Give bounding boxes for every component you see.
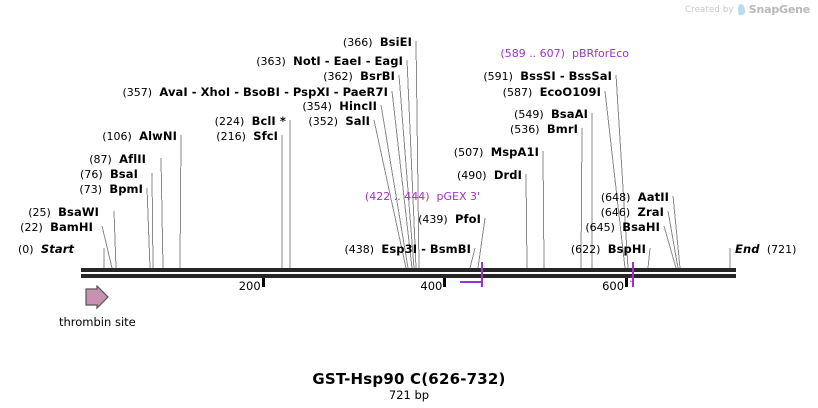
enzyme-position: (22): [20, 221, 43, 234]
enzyme-position: (549): [514, 108, 544, 121]
sequence-backbone-bottom: [81, 274, 736, 278]
enzyme-position: (622): [571, 243, 601, 256]
enzyme-name-separator: -: [280, 85, 293, 99]
enzyme-label-aatii[interactable]: (648) AatII: [601, 192, 669, 204]
enzyme-label-bcli[interactable]: (224) BclI *: [215, 116, 286, 128]
enzyme-position: (354): [302, 100, 332, 113]
enzyme-name: EagI: [374, 54, 403, 68]
enzyme-name-separator: -: [556, 69, 569, 83]
enzyme-name: SfcI: [253, 129, 278, 143]
enzyme-position: (106): [102, 130, 132, 143]
axis-tick-mark-400: [443, 278, 446, 287]
enzyme-name: BamHI: [50, 220, 93, 234]
enzyme-name: AflII: [119, 152, 146, 166]
leader-bsawi: [114, 211, 116, 268]
enzyme-label-bsawi[interactable]: (25) BsaWI: [28, 207, 99, 219]
enzyme-position: (438): [344, 243, 374, 256]
enzyme-name: EaeI: [334, 54, 362, 68]
enzyme-name: BsrBI: [360, 69, 395, 83]
enzyme-position: (87): [89, 153, 112, 166]
terminal-label-start[interactable]: (0) Start: [18, 244, 74, 256]
enzyme-label-aflii[interactable]: (87) AflII: [89, 154, 146, 166]
thrombin-site-arrow: [84, 285, 110, 311]
terminal-name: Start: [41, 242, 74, 256]
enzyme-position: (591): [483, 70, 513, 83]
enzyme-position: (648): [601, 191, 631, 204]
enzyme-name: XhoI: [201, 85, 231, 99]
construct-length: 721 bp: [0, 388, 818, 402]
enzyme-position: (224): [215, 115, 245, 128]
sequence-map-canvas: Created by SnapGene: [0, 0, 818, 408]
enzyme-label-bsphi[interactable]: (622) BspHI: [571, 244, 646, 256]
axis-tick-label-400: 400: [420, 279, 442, 293]
leader-zrai: [668, 211, 678, 268]
enzyme-name: BsaI: [110, 167, 138, 181]
enzyme-label-alwni[interactable]: (106) AlwNI: [102, 131, 177, 143]
axis-tick-mark-200: [262, 278, 265, 287]
enzyme-label-ecoo109i[interactable]: (587) EcoO109I: [503, 87, 601, 99]
enzyme-label-bsiei[interactable]: (366) BsiEI: [343, 37, 412, 49]
axis-tick-label-600: 600: [602, 279, 624, 293]
enzyme-name: HincII: [339, 99, 377, 113]
enzyme-position: (646): [601, 206, 631, 219]
enzyme-name-separator: -: [417, 242, 430, 256]
enzyme-label-sali[interactable]: (352) SalI: [308, 116, 370, 128]
enzyme-position: (362): [323, 70, 353, 83]
enzyme-position: (357): [122, 86, 152, 99]
sequence-backbone-top: [81, 268, 736, 272]
enzyme-label-bsai[interactable]: (76) BsaI: [80, 169, 138, 181]
enzyme-label-esp3i[interactable]: (438) Esp3I - BsmBI: [344, 244, 471, 256]
enzyme-label-bsrbi[interactable]: (362) BsrBI: [323, 71, 395, 83]
enzyme-position: (363): [256, 55, 286, 68]
axis-tick-mark-600: [625, 278, 628, 287]
leader-bsphi: [648, 248, 650, 268]
enzyme-name: AvaI: [159, 85, 187, 99]
enzyme-name: MspA1I: [491, 145, 539, 159]
enzyme-label-bamhi[interactable]: (22) BamHI: [20, 222, 93, 234]
enzyme-position: (587): [503, 86, 533, 99]
enzyme-name: BsaWI: [58, 205, 99, 219]
leader-mspa1i: [543, 151, 544, 268]
leader-bsiei: [416, 41, 419, 268]
leader-lines: [0, 0, 818, 408]
leader-drdi: [526, 174, 527, 268]
enzyme-name-separator: -: [188, 85, 201, 99]
enzyme-name: DrdI: [494, 168, 522, 182]
enzyme-name: BssSI: [520, 69, 556, 83]
enzyme-position: (366): [343, 36, 373, 49]
enzyme-name: BsaHI: [622, 220, 660, 234]
enzyme-name: PspXI: [293, 85, 330, 99]
enzyme-label-sfci[interactable]: (216) SfcI: [216, 131, 278, 143]
feature-range: (589 .. 607): [500, 47, 565, 60]
enzyme-position: (645): [585, 221, 615, 234]
enzyme-name: BssSaI: [569, 69, 612, 83]
enzyme-label-bsssi[interactable]: (591) BssSI - BssSaI: [483, 71, 612, 83]
enzyme-name-separator: -: [330, 85, 343, 99]
enzyme-position: (352): [308, 115, 338, 128]
leader-bsai: [152, 173, 153, 268]
leader-aflii: [161, 158, 163, 268]
axis-tick-label-200: 200: [239, 279, 261, 293]
construct-title: GST-Hsp90 C(626-732): [0, 370, 818, 388]
enzyme-name: BsmBI: [430, 242, 471, 256]
enzyme-name: SalI: [345, 114, 370, 128]
terminal-position: (721): [767, 243, 797, 256]
pbrforeco-primer-dots: :: [629, 276, 633, 281]
enzyme-label-zrai[interactable]: (646) ZraI: [601, 207, 664, 219]
enzyme-position: (76): [80, 168, 103, 181]
enzyme-name: AatII: [638, 190, 669, 204]
enzyme-label-bsaai[interactable]: (549) BsaAI: [514, 109, 588, 121]
pgex3-primer-tick: [481, 262, 483, 287]
enzyme-name: Esp3I: [381, 242, 417, 256]
enzyme-name: BmrI: [547, 122, 578, 136]
enzyme-label-bmri[interactable]: (536) BmrI: [510, 124, 578, 136]
enzyme-name: BsiEI: [380, 35, 412, 49]
enzyme-label-pfoi[interactable]: (439) PfoI: [418, 214, 481, 226]
enzyme-name: BpmI: [109, 182, 143, 196]
terminal-label-end[interactable]: End (721): [735, 244, 796, 256]
enzyme-label-bpmi[interactable]: (73) BpmI: [79, 184, 143, 196]
enzyme-position: (439): [418, 213, 448, 226]
enzyme-name: AlwNI: [139, 129, 177, 143]
enzyme-label-bsahi[interactable]: (645) BsaHI: [585, 222, 660, 234]
enzyme-label-mspa1i[interactable]: (507) MspA1I: [454, 147, 539, 159]
leader-alwni: [180, 135, 181, 268]
enzyme-name: ZraI: [638, 205, 664, 219]
enzyme-name: PfoI: [455, 212, 481, 226]
enzyme-label-drdi[interactable]: (490) DrdI: [457, 170, 522, 182]
feature-label-pbrforeco[interactable]: (589 .. 607) pBRforEco: [500, 48, 629, 59]
enzyme-name-separator: -: [321, 54, 334, 68]
feature-name: pBRforEco: [572, 47, 629, 60]
enzyme-label-hincii[interactable]: (354) HincII: [302, 101, 377, 113]
enzyme-name: BclI *: [252, 114, 286, 128]
enzyme-position: (536): [510, 123, 540, 136]
feature-label-pgex3[interactable]: (422 .. 444) pGEX 3': [365, 191, 480, 202]
feature-range: (422 .. 444): [365, 190, 430, 203]
enzyme-name: PaeR7I: [343, 85, 388, 99]
enzyme-position: (73): [79, 183, 102, 196]
pgex3-primer-bar: [460, 281, 482, 283]
enzyme-position: (507): [454, 146, 484, 159]
feature-name: pGEX 3': [436, 190, 480, 203]
terminal-position: (0): [18, 243, 34, 256]
enzyme-name: EcoO109I: [540, 85, 601, 99]
enzyme-label-avai[interactable]: (357) AvaI - XhoI - BsoBI - PspXI - PaeR…: [122, 87, 388, 99]
enzyme-name-separator: -: [362, 54, 375, 68]
enzyme-name-separator: -: [230, 85, 243, 99]
enzyme-name: BsoBI: [243, 85, 280, 99]
thrombin-site-label: thrombin site: [59, 315, 136, 329]
enzyme-position: (490): [457, 169, 487, 182]
enzyme-position: (25): [28, 206, 51, 219]
enzyme-name: BspHI: [608, 242, 646, 256]
enzyme-label-noti[interactable]: (363) NotI - EaeI - EagI: [256, 56, 403, 68]
enzyme-position: (216): [216, 130, 246, 143]
enzyme-name: BsaAI: [551, 107, 588, 121]
leader-bpmi: [147, 188, 150, 268]
enzyme-name: NotI: [293, 54, 321, 68]
terminal-name: End: [735, 242, 760, 256]
